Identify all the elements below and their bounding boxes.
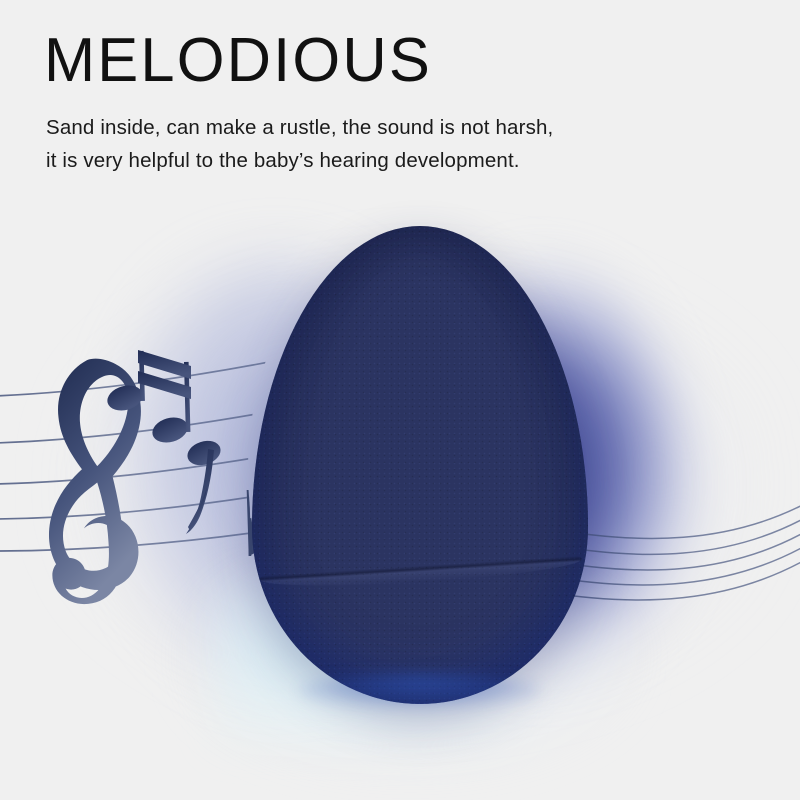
description-line-1: Sand inside, can make a rustle, the soun…: [46, 111, 666, 144]
egg-shaker-product: [252, 226, 588, 704]
egg-surface-texture: [252, 226, 588, 704]
copy-block: MELODIOUS Sand inside, can make a rustle…: [44, 28, 744, 178]
description-text: Sand inside, can make a rustle, the soun…: [46, 111, 666, 177]
egg-shell: [252, 226, 588, 704]
egg-contact-glow: [299, 674, 541, 708]
product-poster: MELODIOUS Sand inside, can make a rustle…: [0, 0, 800, 800]
description-line-2: it is very helpful to the baby’s hearing…: [46, 144, 666, 177]
page-title: MELODIOUS: [44, 28, 737, 93]
